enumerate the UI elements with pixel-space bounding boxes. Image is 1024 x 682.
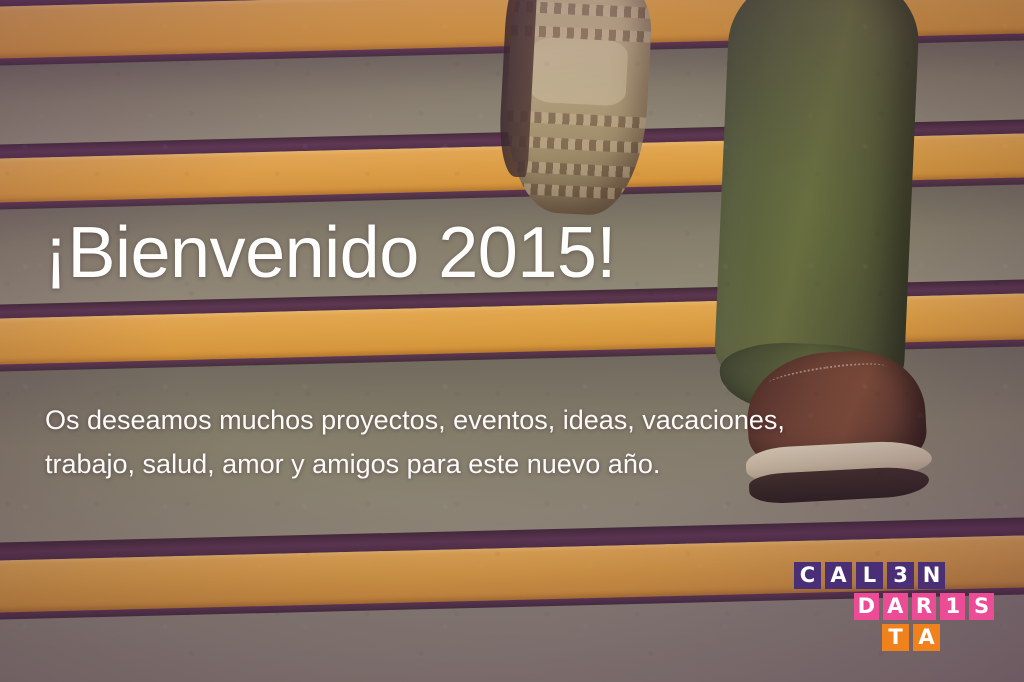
promo-image: ¡Bienvenido 2015! Os deseamos muchos pro… [0,0,1024,682]
logo-tile-3: 3 [887,562,914,589]
logo-tile-a: A [825,562,852,589]
logo-tile-c: C [794,562,821,589]
raised-shoe-sole [502,0,655,217]
page-title: ¡Bienvenido 2015! [44,212,616,294]
logo-tile-s: S [969,593,994,620]
calendarista-logo[interactable]: CAL3N DAR1S TA [794,562,994,655]
logo-tile-1: 1 [940,593,965,620]
logo-tile-t: T [882,624,909,651]
logo-tile-d: D [854,593,879,620]
trouser-leg [713,0,922,404]
logo-row-2: DAR1S [854,593,994,620]
greeting-message: Os deseamos muchos proyectos, eventos, i… [45,398,845,486]
logo-tile-r: R [912,593,937,620]
logo-tile-a: A [883,593,908,620]
logo-row-1: CAL3N [794,562,994,589]
logo-tile-l: L [856,562,883,589]
logo-tile-n: N [918,562,945,589]
greeting-line-1: Os deseamos muchos proyectos, eventos, i… [45,398,845,442]
logo-row-3: TA [882,624,994,651]
greeting-line-2: trabajo, salud, amor y amigos para este … [45,442,845,486]
logo-tile-a: A [913,624,940,651]
